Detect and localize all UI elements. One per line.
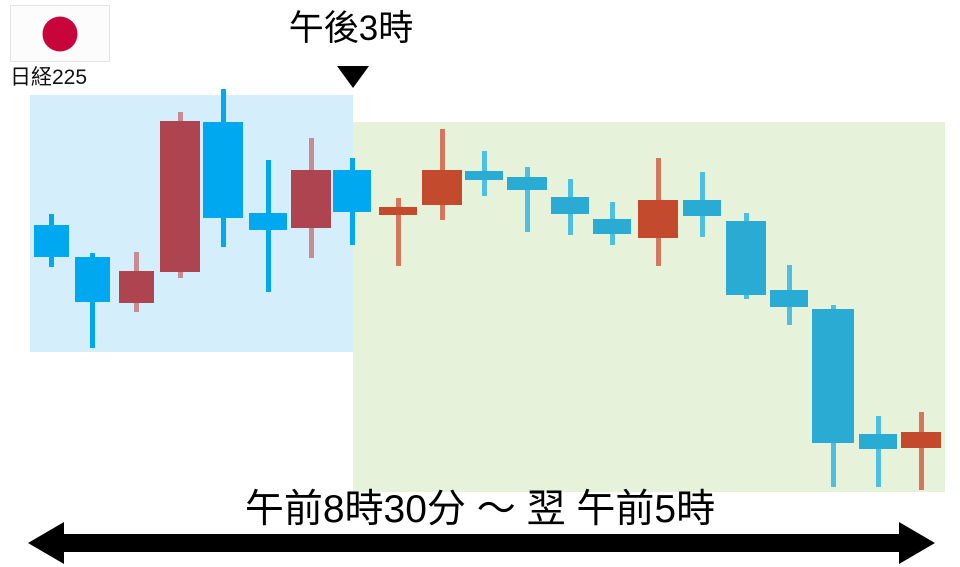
candlestick (379, 198, 417, 266)
candle-body (379, 207, 417, 215)
candlestick (160, 112, 200, 278)
candle-body (812, 309, 854, 443)
flag-red-disc (43, 16, 78, 51)
candle-body (638, 200, 678, 238)
candlestick (551, 179, 589, 235)
candlestick (812, 305, 854, 487)
double-headed-arrow (28, 522, 935, 564)
candlestick (465, 151, 503, 196)
candlestick (333, 158, 371, 245)
candle-body (465, 171, 503, 180)
candlestick (859, 416, 897, 487)
session-boundary-label: 午後3時 (256, 8, 446, 50)
candle-body (683, 200, 721, 216)
candlestick (901, 412, 941, 490)
candlestick (249, 160, 287, 292)
down-triangle-icon (337, 66, 369, 88)
candle-body (75, 257, 110, 302)
candle-body (333, 170, 371, 212)
japan-flag-icon (10, 5, 110, 62)
candlestick (119, 252, 154, 312)
candle-body (203, 122, 243, 218)
candlestick (203, 89, 243, 247)
candle-wick (876, 416, 881, 487)
candlestick (291, 138, 331, 258)
candlestick (75, 253, 110, 348)
candle-body (901, 432, 941, 448)
arrow-shaft (62, 534, 901, 552)
candle-body (551, 197, 589, 214)
candle-body (249, 213, 287, 230)
arrow-head-left-icon (28, 522, 64, 564)
candlestick (507, 167, 547, 232)
candlestick (638, 158, 678, 266)
candle-body (507, 177, 547, 190)
candlestick (683, 172, 721, 237)
candle-body (726, 221, 766, 295)
candle-body (859, 434, 897, 449)
candle-wick (919, 412, 924, 490)
candle-body (422, 170, 462, 205)
candlestick (593, 202, 631, 245)
candle-body (770, 290, 808, 307)
candle-body (291, 170, 331, 228)
candlestick (726, 213, 766, 299)
candlestick (34, 214, 69, 267)
chart-stage: 日経225 午後3時 午前8時30分 ～ 翌 午前5時 (0, 0, 960, 567)
candlestick (770, 265, 808, 325)
index-name-label: 日経225 (10, 66, 87, 90)
candle-body (593, 219, 631, 234)
candlestick (422, 129, 462, 220)
candle-body (34, 225, 69, 257)
candle-body (119, 271, 154, 303)
candle-body (160, 121, 200, 272)
arrow-head-right-icon (899, 522, 935, 564)
